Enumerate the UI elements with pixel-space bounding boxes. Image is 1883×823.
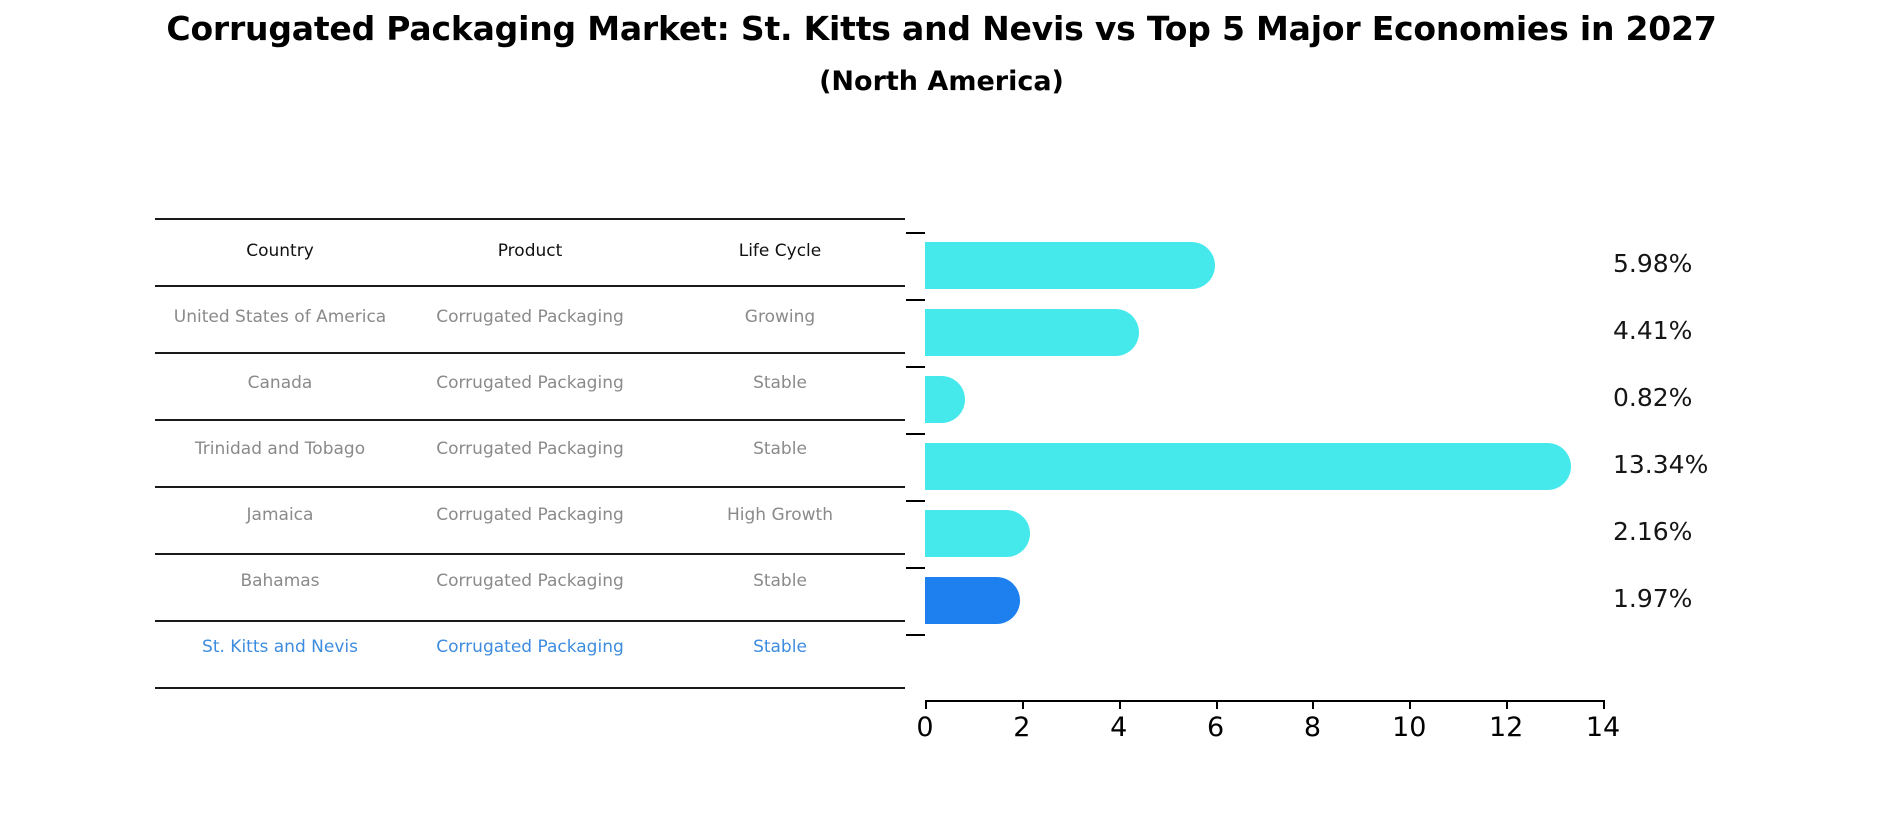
cell-life-cycle: Stable — [655, 350, 905, 416]
table-header-row: Country Product Life Cycle — [155, 218, 905, 284]
x-axis-tick-label: 2 — [1013, 712, 1030, 743]
cell-product: Corrugated Packaging — [405, 614, 655, 680]
cell-product: Corrugated Packaging — [405, 284, 655, 350]
bar-value-label: 4.41% — [1613, 316, 1692, 345]
x-axis-tick — [1022, 700, 1024, 709]
x-axis-tick-label: 6 — [1207, 712, 1224, 743]
cell-product: Corrugated Packaging — [405, 416, 655, 482]
bar-highlighted[interactable] — [925, 577, 1020, 624]
table-row[interactable]: Jamaica Corrugated Packaging High Growth — [155, 482, 905, 548]
x-axis-tick-label: 4 — [1110, 712, 1127, 743]
cell-country: Canada — [155, 350, 405, 416]
bar-value-label: 0.82% — [1613, 383, 1692, 412]
bar[interactable] — [925, 510, 1030, 557]
table-row[interactable]: Trinidad and Tobago Corrugated Packaging… — [155, 416, 905, 482]
x-axis-tick — [1312, 700, 1314, 709]
bar[interactable] — [925, 242, 1215, 289]
cell-product: Corrugated Packaging — [405, 350, 655, 416]
bar-value-label: 5.98% — [1613, 249, 1692, 278]
chart-plot-area: Country Product Life Cycle United States… — [0, 0, 1883, 823]
cell-life-cycle: Stable — [655, 416, 905, 482]
x-axis-tick — [1409, 700, 1411, 709]
table-row[interactable]: United States of America Corrugated Pack… — [155, 284, 905, 350]
table-row[interactable]: Canada Corrugated Packaging Stable — [155, 350, 905, 416]
bar-value-label: 2.16% — [1613, 517, 1692, 546]
y-axis-tick — [906, 299, 925, 301]
table-rule-bottom — [155, 687, 905, 689]
cell-country: United States of America — [155, 284, 405, 350]
bar[interactable] — [925, 309, 1139, 356]
table-header-product: Product — [405, 218, 655, 284]
cell-country: Bahamas — [155, 548, 405, 614]
cell-country: St. Kitts and Nevis — [155, 614, 405, 680]
cell-life-cycle: High Growth — [655, 482, 905, 548]
x-axis-tick-label: 0 — [916, 712, 933, 743]
bar[interactable] — [925, 376, 965, 423]
x-axis-tick-label: 14 — [1586, 712, 1620, 743]
table-header-country: Country — [155, 218, 405, 284]
y-axis-tick — [906, 634, 925, 636]
cell-country: Jamaica — [155, 482, 405, 548]
x-axis-tick — [1603, 700, 1605, 709]
bar[interactable] — [925, 443, 1571, 490]
x-axis-line — [925, 700, 1603, 702]
x-axis-tick-label: 10 — [1392, 712, 1426, 743]
y-axis-tick — [906, 567, 925, 569]
y-axis-tick — [906, 500, 925, 502]
bar-value-label: 13.34% — [1613, 450, 1708, 479]
x-axis-tick — [1216, 700, 1218, 709]
table-row-highlighted[interactable]: St. Kitts and Nevis Corrugated Packaging… — [155, 614, 905, 680]
x-axis-tick — [1506, 700, 1508, 709]
table-row[interactable]: Bahamas Corrugated Packaging Stable — [155, 548, 905, 614]
cell-country: Trinidad and Tobago — [155, 416, 405, 482]
y-axis-tick — [906, 366, 925, 368]
x-axis-tick-label: 12 — [1489, 712, 1523, 743]
cell-life-cycle: Growing — [655, 284, 905, 350]
x-axis-tick-label: 8 — [1304, 712, 1321, 743]
comparison-table: Country Product Life Cycle United States… — [155, 218, 905, 680]
x-axis-tick — [925, 700, 927, 709]
cell-life-cycle: Stable — [655, 614, 905, 680]
bar-value-label: 1.97% — [1613, 584, 1692, 613]
cell-product: Corrugated Packaging — [405, 548, 655, 614]
cell-life-cycle: Stable — [655, 548, 905, 614]
table-header-life-cycle: Life Cycle — [655, 218, 905, 284]
y-axis-tick — [906, 433, 925, 435]
x-axis-tick — [1119, 700, 1121, 709]
cell-product: Corrugated Packaging — [405, 482, 655, 548]
y-axis-tick — [906, 232, 925, 234]
